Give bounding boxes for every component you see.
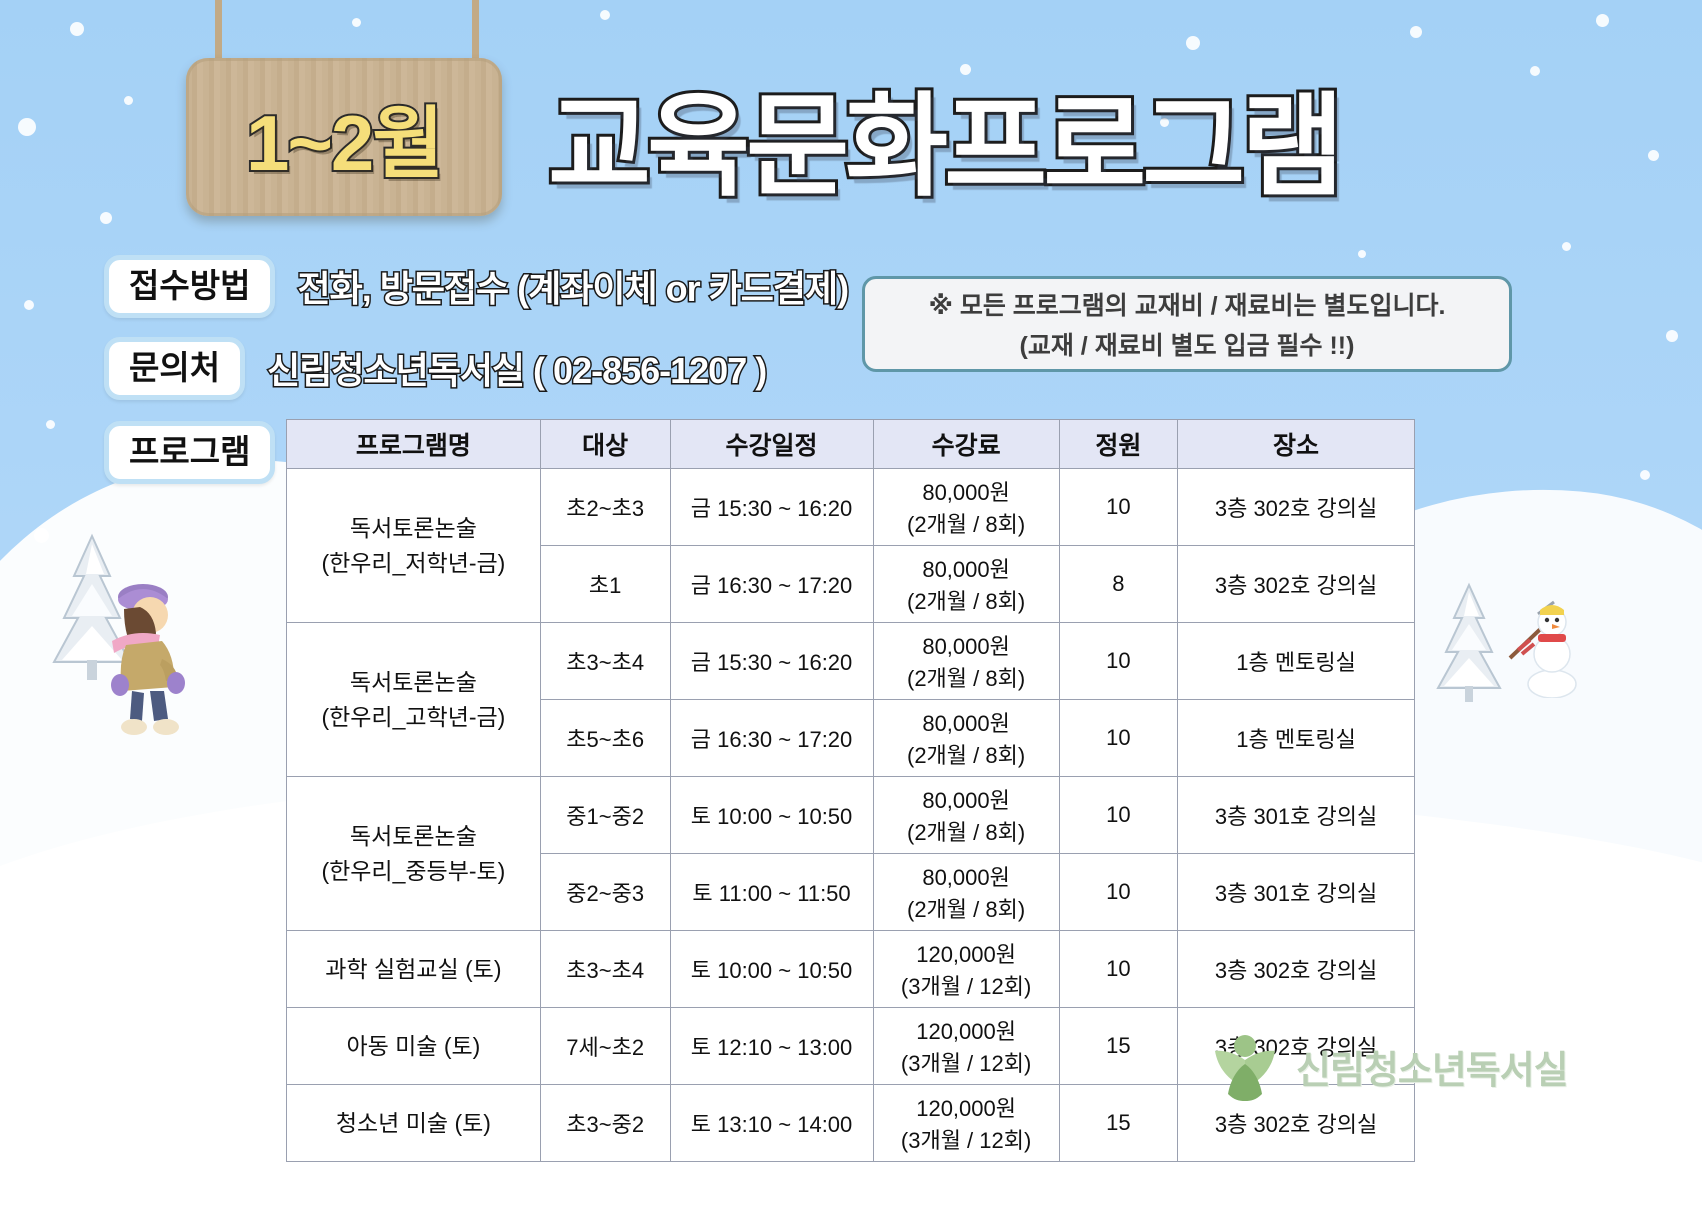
cell-fee: 80,000원(2개월 / 8회) — [873, 469, 1059, 546]
header-capacity: 정원 — [1059, 420, 1177, 469]
cell-program-name: 독서토론논술(한우리_저학년-금) — [287, 469, 541, 623]
program-name-line-1: 청소년 미술 (토) — [336, 1110, 491, 1136]
cell-schedule: 토 11:00 ~ 11:50 — [670, 854, 873, 931]
cell-schedule: 금 15:30 ~ 16:20 — [670, 623, 873, 700]
program-name-line-1: 아동 미술 (토) — [346, 1033, 480, 1059]
fee-duration: (2개월 / 8회) — [878, 507, 1055, 539]
fee-duration: (3개월 / 12회) — [878, 1046, 1055, 1078]
cell-capacity: 15 — [1059, 1008, 1177, 1085]
notice-box: ※ 모든 프로그램의 교재비 / 재료비는 별도입니다. (교재 / 재료비 별… — [862, 276, 1512, 372]
cell-capacity: 10 — [1059, 700, 1177, 777]
fee-amount: 80,000원 — [878, 629, 1055, 661]
notice-line-1: ※ 모든 프로그램의 교재비 / 재료비는 별도입니다. — [929, 286, 1446, 322]
cell-schedule: 금 16:30 ~ 17:20 — [670, 546, 873, 623]
notice-line-2: (교재 / 재료비 별도 입금 필수 !!) — [1020, 326, 1355, 362]
book-leaf-icon — [1208, 1030, 1282, 1102]
cell-fee: 80,000원(2개월 / 8회) — [873, 700, 1059, 777]
month-badge-text: 1~2월 — [186, 58, 502, 216]
cell-capacity: 15 — [1059, 1085, 1177, 1162]
program-name-line-1: 독서토론논술 — [350, 669, 477, 695]
header-program-name: 프로그램명 — [287, 420, 541, 469]
cell-location: 3층 302호 강의실 — [1178, 469, 1415, 546]
logo-text: 신림청소년독서실 — [1296, 1039, 1568, 1094]
cell-schedule: 토 10:00 ~ 10:50 — [670, 931, 873, 1008]
sign-rope-right — [472, 0, 479, 62]
cell-target: 초1 — [540, 546, 670, 623]
cell-capacity: 10 — [1059, 623, 1177, 700]
apply-method-label: 접수방법 — [104, 255, 275, 318]
cell-schedule: 금 16:30 ~ 17:20 — [670, 700, 873, 777]
table-row: 독서토론논술(한우리_고학년-금)초3~초4금 15:30 ~ 16:2080,… — [287, 623, 1415, 700]
cell-target: 초5~초6 — [540, 700, 670, 777]
program-name-line-2: (한우리_저학년-금) — [321, 550, 505, 576]
program-name-line-2: (한우리_고학년-금) — [321, 704, 505, 730]
cell-fee: 80,000원(2개월 / 8회) — [873, 546, 1059, 623]
fee-amount: 80,000원 — [878, 783, 1055, 815]
fee-amount: 80,000원 — [878, 706, 1055, 738]
fee-amount: 80,000원 — [878, 552, 1055, 584]
cell-schedule: 금 15:30 ~ 16:20 — [670, 469, 873, 546]
snowman-illustration — [1508, 588, 1580, 698]
fee-duration: (2개월 / 8회) — [878, 892, 1055, 924]
program-name-line-1: 독서토론논술 — [350, 515, 477, 541]
fee-amount: 80,000원 — [878, 860, 1055, 892]
cell-location: 3층 301호 강의실 — [1178, 777, 1415, 854]
cell-fee: 120,000원(3개월 / 12회) — [873, 1008, 1059, 1085]
cell-schedule: 토 13:10 ~ 14:00 — [670, 1085, 873, 1162]
cell-fee: 120,000원(3개월 / 12회) — [873, 931, 1059, 1008]
page-title: 교육문화프로그램 — [548, 56, 1340, 218]
cell-program-name: 청소년 미술 (토) — [287, 1085, 541, 1162]
cell-location: 3층 302호 강의실 — [1178, 546, 1415, 623]
cell-program-name: 과학 실험교실 (토) — [287, 931, 541, 1008]
header-fee: 수강료 — [873, 420, 1059, 469]
program-name-line-1: 과학 실험교실 (토) — [325, 956, 501, 982]
cell-target: 초2~초3 — [540, 469, 670, 546]
header-schedule: 수강일정 — [670, 420, 873, 469]
cell-schedule: 토 10:00 ~ 10:50 — [670, 777, 873, 854]
header-target: 대상 — [540, 420, 670, 469]
cell-location: 3층 301호 강의실 — [1178, 854, 1415, 931]
header-location: 장소 — [1178, 420, 1415, 469]
cell-program-name: 독서토론논술(한우리_중등부-토) — [287, 777, 541, 931]
cell-capacity: 10 — [1059, 931, 1177, 1008]
snowy-pine-tree-right-icon — [1424, 580, 1514, 710]
cell-schedule: 토 12:10 ~ 13:00 — [670, 1008, 873, 1085]
cell-target: 중1~중2 — [540, 777, 670, 854]
table-header-row: 프로그램명 대상 수강일정 수강료 정원 장소 — [287, 420, 1415, 469]
cell-target: 중2~중3 — [540, 854, 670, 931]
cell-fee: 80,000원(2개월 / 8회) — [873, 777, 1059, 854]
cell-fee: 80,000원(2개월 / 8회) — [873, 623, 1059, 700]
cell-capacity: 10 — [1059, 854, 1177, 931]
cell-program-name: 독서토론논술(한우리_고학년-금) — [287, 623, 541, 777]
cell-location: 3층 302호 강의실 — [1178, 931, 1415, 1008]
program-row: 프로그램 — [104, 421, 275, 484]
cell-fee: 120,000원(3개월 / 12회) — [873, 1085, 1059, 1162]
cell-fee: 80,000원(2개월 / 8회) — [873, 854, 1059, 931]
winter-girl-illustration — [88, 575, 198, 740]
table-row: 독서토론논술(한우리_중등부-토)중1~중2토 10:00 ~ 10:5080,… — [287, 777, 1415, 854]
fee-duration: (2개월 / 8회) — [878, 738, 1055, 770]
fee-amount: 120,000원 — [878, 937, 1055, 969]
contact-value: 신림청소년독서실 ( 02-856-1207 ) — [267, 342, 766, 394]
cell-capacity: 8 — [1059, 546, 1177, 623]
organization-logo: 신림청소년독서실 — [1208, 1030, 1568, 1102]
cell-capacity: 10 — [1059, 469, 1177, 546]
sign-rope-left — [215, 0, 222, 66]
month-sign-board: 1~2월 — [186, 58, 502, 216]
cell-location: 1층 멘토링실 — [1178, 700, 1415, 777]
fee-duration: (2개월 / 8회) — [878, 815, 1055, 847]
cell-program-name: 아동 미술 (토) — [287, 1008, 541, 1085]
apply-method-value: 전화, 방문접수 (계좌이체 or 카드결제) — [297, 260, 848, 312]
cell-target: 7세~초2 — [540, 1008, 670, 1085]
cell-target: 초3~초4 — [540, 931, 670, 1008]
program-name-line-2: (한우리_중등부-토) — [321, 858, 505, 884]
cell-target: 초3~중2 — [540, 1085, 670, 1162]
fee-duration: (3개월 / 12회) — [878, 1123, 1055, 1155]
program-label: 프로그램 — [104, 421, 275, 484]
fee-duration: (2개월 / 8회) — [878, 584, 1055, 616]
fee-amount: 120,000원 — [878, 1091, 1055, 1123]
cell-target: 초3~초4 — [540, 623, 670, 700]
fee-duration: (3개월 / 12회) — [878, 969, 1055, 1001]
contact-row: 문의처 신림청소년독서실 ( 02-856-1207 ) — [104, 337, 766, 400]
table-row: 과학 실험교실 (토)초3~초4토 10:00 ~ 10:50120,000원(… — [287, 931, 1415, 1008]
program-name-line-1: 독서토론논술 — [350, 823, 477, 849]
cell-capacity: 10 — [1059, 777, 1177, 854]
apply-method-row: 접수방법 전화, 방문접수 (계좌이체 or 카드결제) — [104, 255, 848, 318]
fee-amount: 120,000원 — [878, 1014, 1055, 1046]
contact-label: 문의처 — [104, 337, 245, 400]
table-row: 독서토론논술(한우리_저학년-금)초2~초3금 15:30 ~ 16:2080,… — [287, 469, 1415, 546]
cell-location: 1층 멘토링실 — [1178, 623, 1415, 700]
fee-amount: 80,000원 — [878, 475, 1055, 507]
fee-duration: (2개월 / 8회) — [878, 661, 1055, 693]
